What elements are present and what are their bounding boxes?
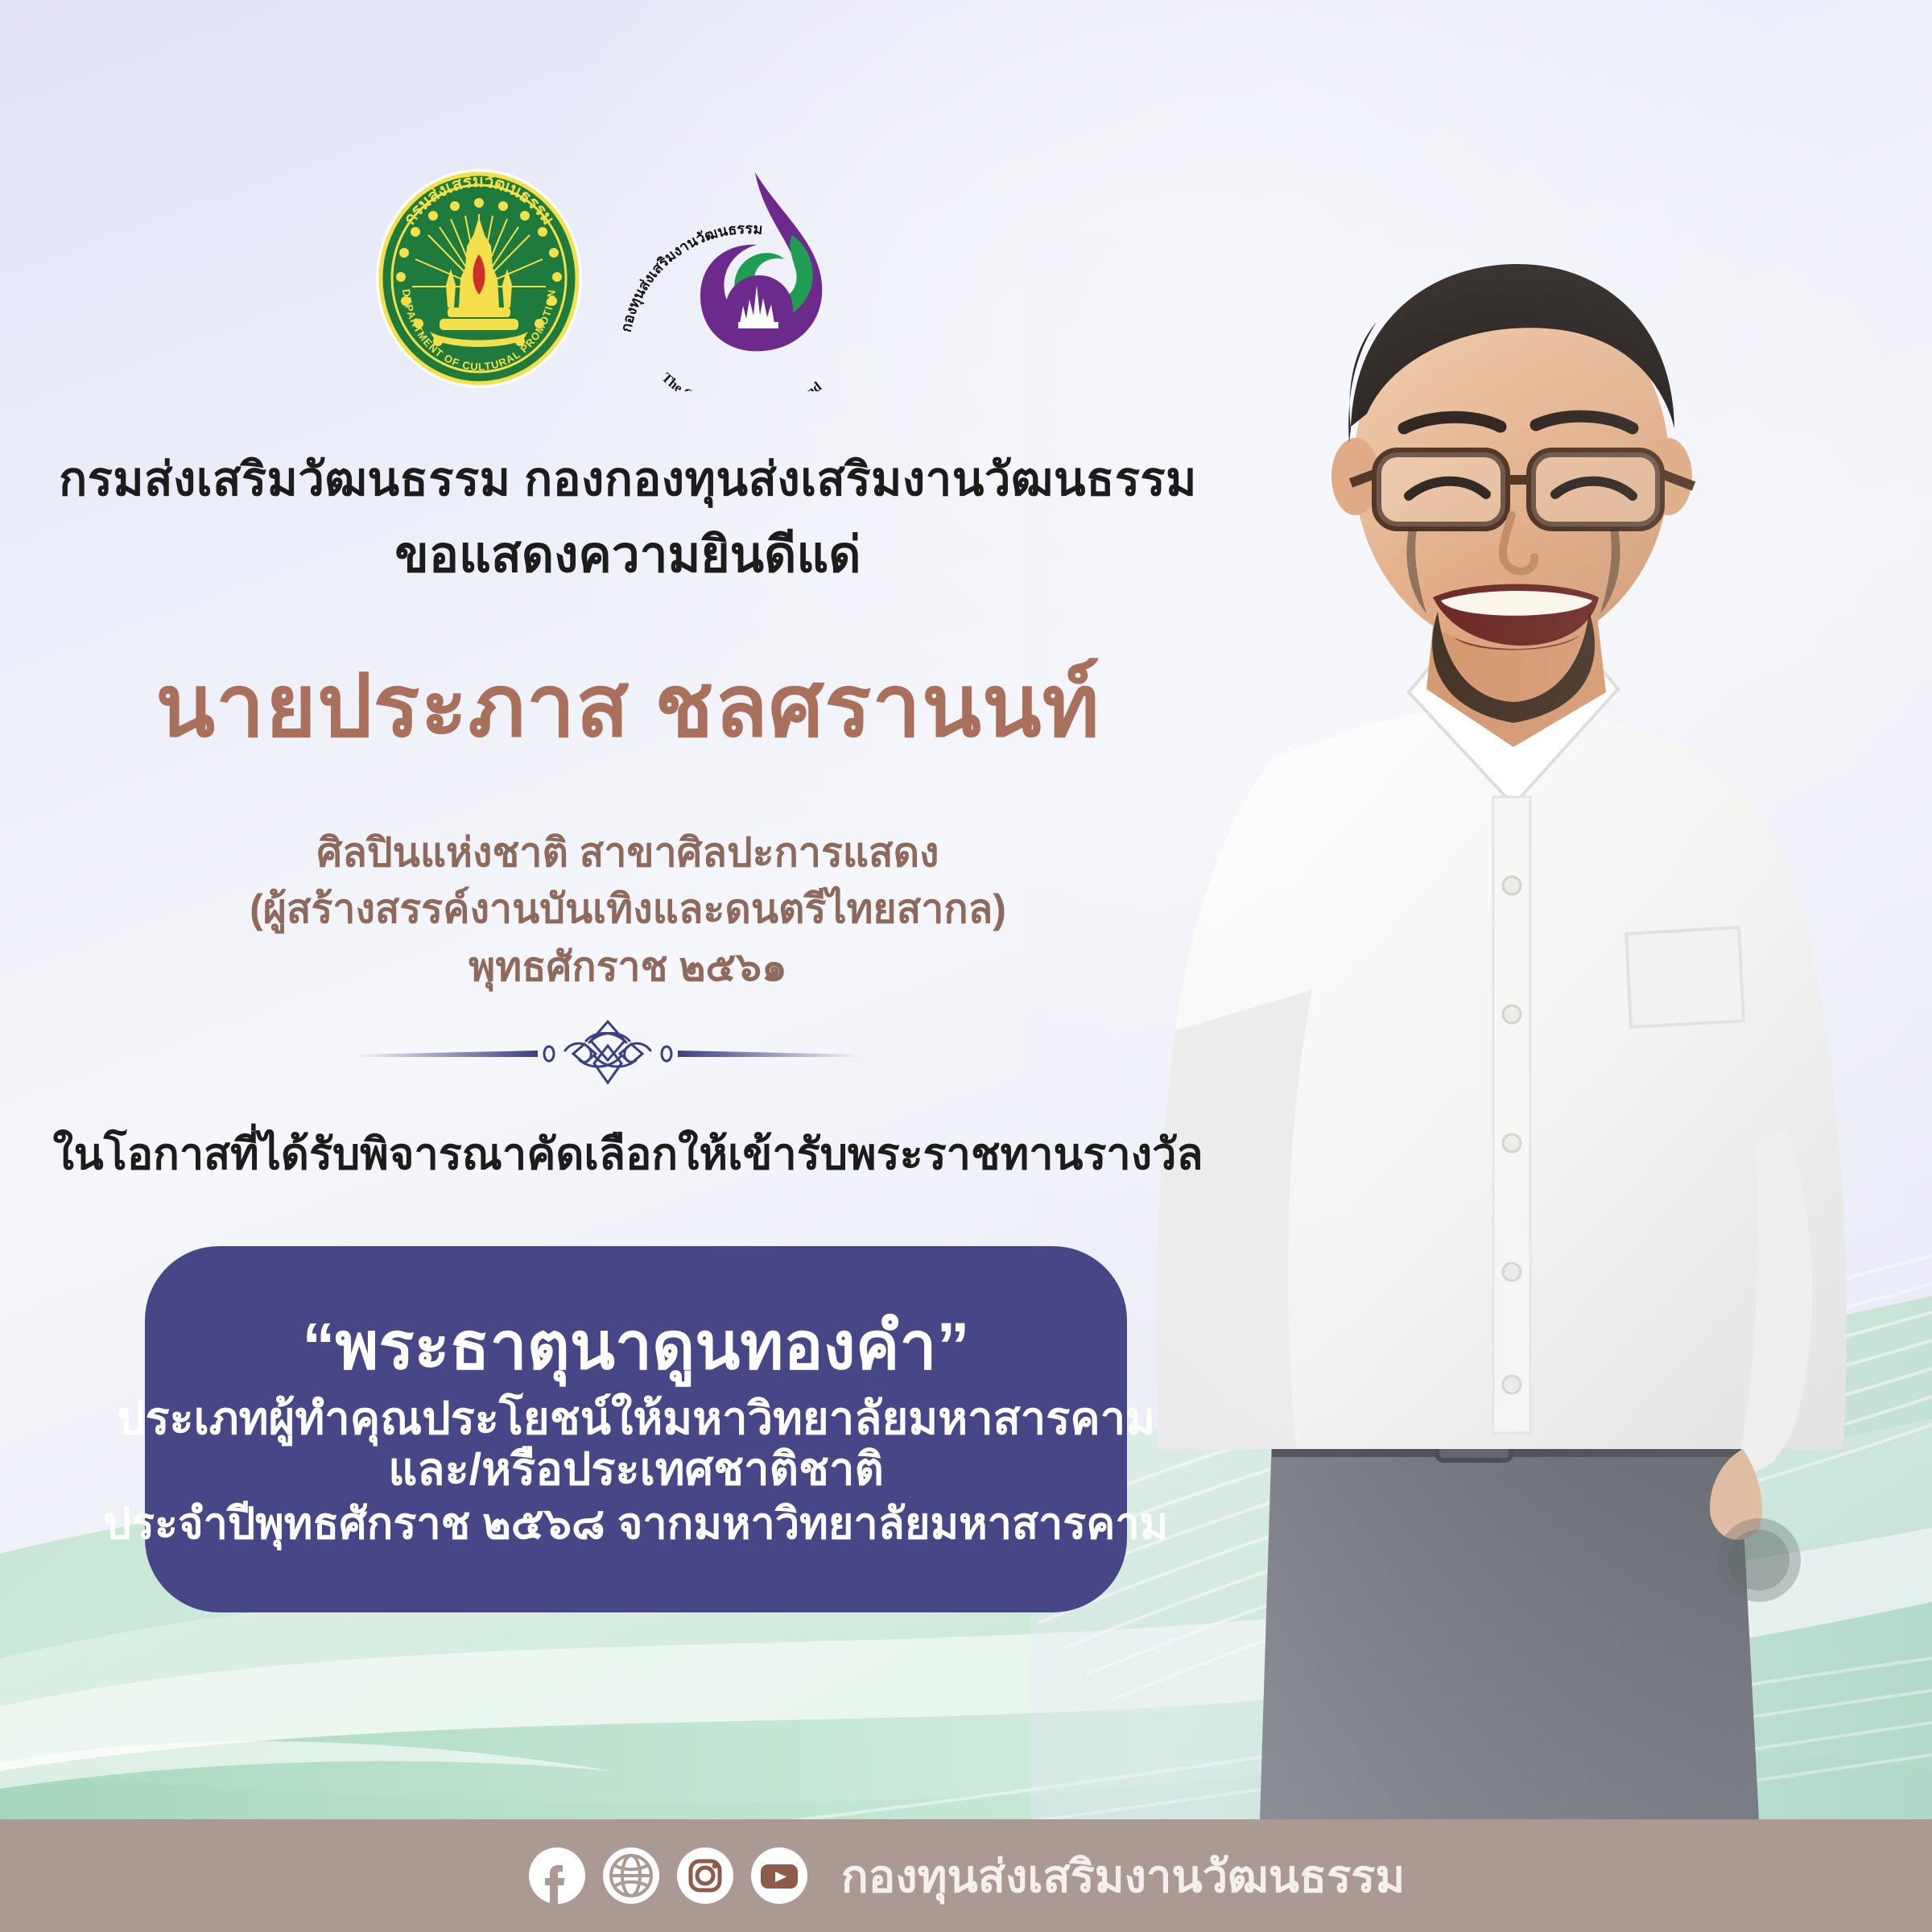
honoree-name: นายประภาส ชลศรานนท์ xyxy=(0,636,1256,774)
award-category-line-1: ประเภทผู้ทำคุณประโยชน์ให้มหาวิทยาลัยมหาส… xyxy=(117,1393,1155,1444)
logo-row: กรมส่งเสริมวัฒนธรรม DEPARTMENT OF CULTUR… xyxy=(370,158,885,399)
honoree-title-line-1: ศิลปินแห่งชาติ สาขาศิลปะการแสดง xyxy=(0,821,1256,885)
congratulation-line: ขอแสดงความยินดีแด่ xyxy=(0,515,1256,594)
footer-bar: กองทุนส่งเสริมงานวัฒนธรรม xyxy=(0,1819,1932,1932)
youtube-icon[interactable] xyxy=(749,1846,809,1905)
award-year-line: ประจำปีพุทธศักราช ๒๕๖๘ จากมหาวิทยาลัยมหา… xyxy=(104,1500,1169,1550)
award-card: “พระธาตุนาดูนทองคำ” ประเภทผู้ทำคุณประโยช… xyxy=(145,1246,1127,1612)
honoree-title-line-2: (ผู้สร้างสรรค์งานบันเทิงและดนตรีไทยสากล) xyxy=(0,877,1256,941)
ornament-divider xyxy=(338,1010,877,1095)
cultural-promotion-fund-logo: กองทุนส่งเสริมงานวัฒนธรรม The Cultural P… xyxy=(620,158,869,391)
svg-text:The Cultural Promotion Fund: The Cultural Promotion Fund xyxy=(658,369,824,391)
website-globe-icon[interactable] xyxy=(601,1846,661,1905)
footer-brand-text: กองทุนส่งเสริมงานวัฒนธรรม xyxy=(841,1840,1406,1912)
organization-line: กรมส่งเสริมวัฒนธรรม กองกองทุนส่งเสริมงาน… xyxy=(0,441,1256,516)
occasion-line: ในโอกาสที่ได้รับพิจารณาคัดเลือกให้เข้ารั… xyxy=(0,1119,1256,1188)
honoree-title-year: พุทธศักราช ๒๕๖๑ xyxy=(0,935,1256,999)
instagram-icon[interactable] xyxy=(675,1846,735,1905)
department-of-cultural-promotion-seal: กรมส่งเสริมวัฒนธรรม DEPARTMENT OF CULTUR… xyxy=(370,166,588,391)
facebook-icon[interactable] xyxy=(527,1846,587,1905)
award-title: “พระธาตุนาดูนทองคำ” xyxy=(302,1309,969,1384)
award-category-line-2: และ/หรือประเทศชาติชาติ xyxy=(388,1443,884,1495)
congratulation-poster: กรมส่งเสริมวัฒนธรรม DEPARTMENT OF CULTUR… xyxy=(0,0,1932,1932)
